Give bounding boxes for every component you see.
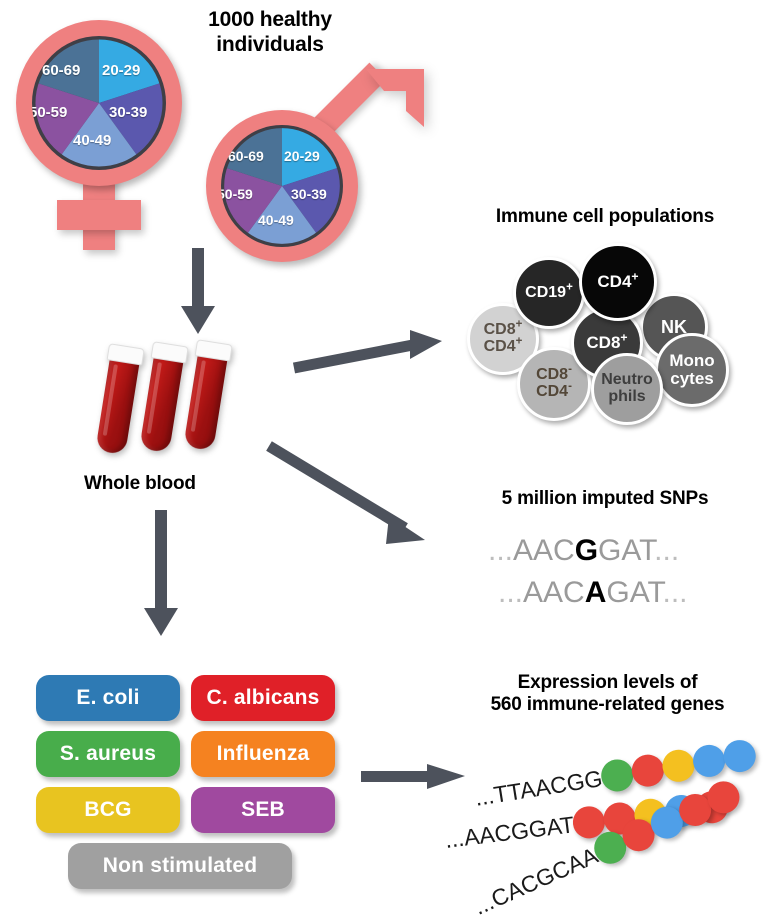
female-symbol: 20-29 30-39 40-49 50-59 60-69 (10, 18, 190, 248)
snp-sequence-row: ...AACGGAT... (488, 534, 679, 568)
stimulus-label: BCG (84, 798, 131, 822)
expression-bead-blue (721, 738, 758, 775)
male-age-pie: 20-29 30-39 40-49 50-59 60-69 (221, 125, 343, 247)
arrow-blood-to-snp (265, 440, 440, 555)
stimulus-seb[interactable]: SEB (191, 787, 335, 833)
female-pie-label-60-69: 60-69 (42, 62, 80, 79)
female-symbol-cross (57, 200, 141, 230)
expression-bead-blue (690, 743, 727, 780)
male-pie-label-60-69: 60-69 (228, 148, 264, 164)
blood-tube-body (183, 353, 227, 451)
immune-cell-label: CD8-CD4- (536, 367, 572, 400)
blood-tube (139, 342, 186, 453)
stimulus-label: S. aureus (60, 742, 156, 766)
male-symbol-arrowhead (344, 63, 430, 149)
immune-cell-label: CD8+ (586, 334, 627, 352)
blood-tube-body (139, 355, 183, 453)
immune-cell-cd4p: CD4+ (579, 243, 657, 321)
whole-blood-label: Whole blood (84, 473, 244, 495)
expression-bead-yellow (660, 748, 697, 785)
arrow-cohort-to-blood (176, 248, 222, 338)
female-pie-label-50-59: 50-59 (32, 104, 67, 121)
male-pie-label-40-49: 40-49 (258, 212, 294, 228)
female-age-pie: 20-29 30-39 40-49 50-59 60-69 (32, 36, 166, 170)
female-pie-label-20-29: 20-29 (102, 62, 140, 79)
arrow-blood-to-stimuli (139, 510, 185, 640)
stimulus-s-aureus[interactable]: S. aureus (36, 731, 180, 777)
stimulus-e-coli[interactable]: E. coli (36, 675, 180, 721)
snp-variant-base: A (585, 576, 607, 609)
snp-prefix-ellipsis: ... (498, 576, 523, 609)
snp-left-bases: AAC (523, 576, 585, 609)
stimulus-influenza[interactable]: Influenza (191, 731, 335, 777)
female-pie-svg (32, 36, 166, 170)
expression-strand-sequence: ...CACGCAA (470, 842, 602, 921)
expression-strand-sequence: ...AACGGAT (443, 811, 575, 854)
male-symbol: 20-29 30-39 40-49 50-59 60-69 (200, 75, 415, 260)
female-pie-label-30-39: 30-39 (109, 104, 147, 121)
snp-prefix-ellipsis: ... (488, 534, 513, 567)
figure-canvas: 1000 healthyindividuals 20-29 30-39 40- (0, 0, 771, 922)
arrow-blood-to-immune (290, 330, 450, 380)
snp-suffix-ellipsis: ... (654, 534, 679, 567)
snp-sequences: ...AACGGAT... ...AACAGAT... (488, 534, 748, 624)
immune-cell-label: Monocytes (669, 352, 714, 387)
snp-right-bases: GAT (598, 534, 654, 567)
male-pie-label-20-29: 20-29 (284, 148, 320, 164)
snp-right-bases: GAT (606, 576, 662, 609)
section-title-immune-cells: Immune cell populations (450, 206, 760, 228)
stimulus-c-albicans[interactable]: C. albicans (191, 675, 335, 721)
male-pie-label-50-59: 50-59 (221, 186, 253, 202)
immune-cell-neutrophils: Neutrophils (591, 353, 663, 425)
stimuli-panel: E. coli C. albicans S. aureus Influenza … (36, 675, 336, 890)
expression-bead-green (599, 757, 636, 794)
expression-title-line2: 560 immune-related genes (491, 694, 725, 715)
page-title-cohort: 1000 healthyindividuals (170, 8, 370, 58)
snp-variant-base: G (575, 534, 598, 567)
stimulus-label: Influenza (217, 742, 310, 766)
immune-cell-label: CD19+ (525, 285, 573, 302)
snp-left-bases: AAC (513, 534, 575, 567)
stimulus-label: Non stimulated (103, 854, 257, 878)
stimulus-bcg[interactable]: BCG (36, 787, 180, 833)
expression-strand-sequence: ...TTAACGG (473, 765, 604, 812)
snp-sequence-row: ...AACAGAT... (498, 576, 688, 610)
whole-blood-tubes (110, 340, 250, 470)
expression-strands: ...TTAACGG ...AACGGAT ...CACGCAA (455, 740, 771, 910)
immune-cell-cluster: CD8+CD4+ CD19+ CD4+ NK CD8+ Monocytes CD… (455, 235, 760, 410)
blood-tube-body (95, 357, 139, 455)
immune-cell-label: CD4+ (597, 273, 638, 291)
stimulus-non-stimulated[interactable]: Non stimulated (68, 843, 292, 889)
stimulus-label: C. albicans (206, 686, 319, 710)
stimulus-label: SEB (241, 798, 285, 822)
expression-title-line1: Expression levels of (518, 672, 698, 693)
section-title-snps: 5 million imputed SNPs (450, 488, 760, 510)
section-title-expression: Expression levels of 560 immune-related … (455, 672, 760, 717)
blood-tube (183, 340, 230, 451)
immune-cell-monocytes: Monocytes (655, 333, 729, 407)
immune-cell-cd19p: CD19+ (513, 257, 585, 329)
female-pie-label-40-49: 40-49 (73, 132, 111, 149)
immune-cell-label: CD8+CD4+ (484, 322, 523, 355)
stimulus-label: E. coli (76, 686, 139, 710)
immune-cell-label: Neutrophils (601, 372, 653, 405)
blood-tube (95, 344, 142, 455)
male-pie-label-30-39: 30-39 (291, 186, 327, 202)
snp-suffix-ellipsis: ... (663, 576, 688, 609)
expression-bead-red (629, 752, 666, 789)
